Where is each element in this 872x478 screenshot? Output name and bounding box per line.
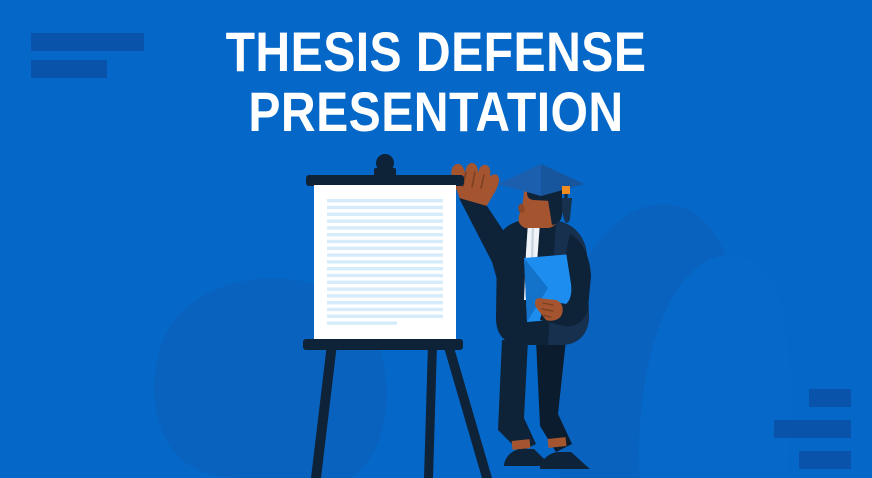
presenter-ankle-back (512, 439, 531, 450)
title-line-2: PRESENTATION (61, 82, 811, 142)
presenter-leg-back (498, 340, 536, 452)
flipchart-bottom-rail (303, 339, 463, 350)
easel-leg-mid (424, 344, 437, 478)
title-line-1: THESIS DEFENSE (61, 22, 811, 82)
easel-tripod (311, 344, 492, 478)
graduation-cap-button (562, 186, 570, 194)
easel-leg-left (311, 344, 337, 478)
graduation-cap-tassel (562, 198, 572, 223)
flipchart-top-rail (306, 175, 464, 186)
presenter-ankle-front (548, 437, 567, 448)
presenter-shoe-front (540, 452, 590, 469)
presenter-leg-front (536, 340, 572, 452)
slide-title: THESIS DEFENSE PRESENTATION (0, 22, 872, 142)
presenter-figure (496, 164, 591, 469)
easel-leg-right (443, 344, 492, 478)
flipchart-last-line-short (327, 321, 397, 324)
flipchart (303, 154, 464, 350)
presentation-slide: THESIS DEFENSE PRESENTATION (0, 0, 872, 478)
